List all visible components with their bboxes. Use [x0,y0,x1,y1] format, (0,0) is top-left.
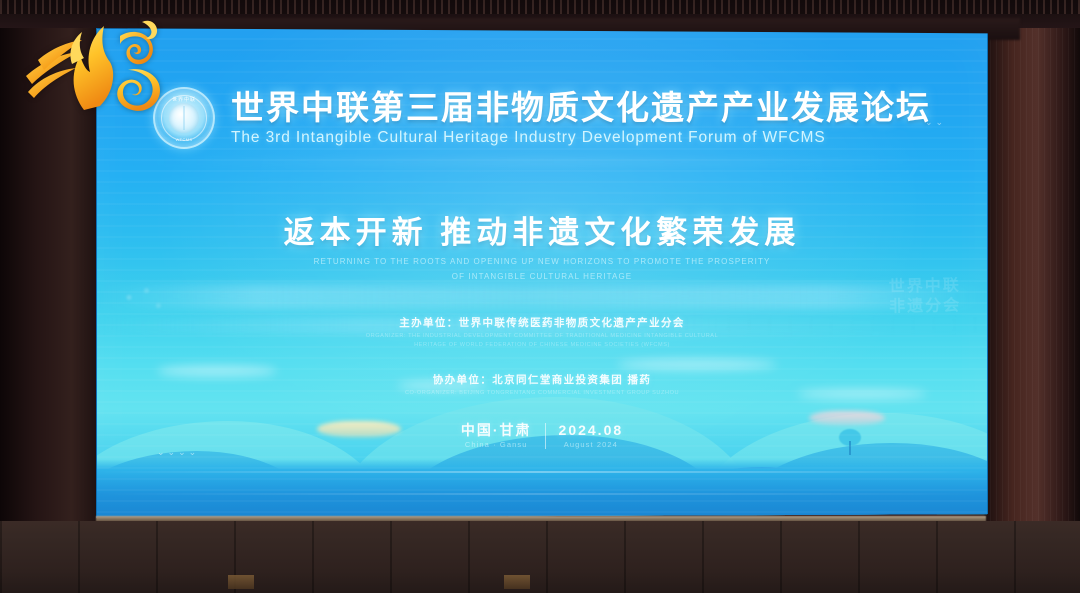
emblem-bottom-text: WFCMS [155,137,213,142]
title-block: 世界中联第三届非物质文化遗产产业发展论坛 The 3rd Intangible … [231,89,931,147]
date-col: 2024.08 August 2024 [559,422,624,449]
phoenix-flame-logo [24,18,174,114]
date-cn: 2024.08 [559,422,624,439]
date-location-block: 中国·甘肃 China · Gansu 2024.08 August 2024 [97,422,987,449]
slogan-cn: 返本开新 推动非遗文化繁荣发展 [97,214,987,252]
date-en: August 2024 [559,440,624,449]
stage-front-panel [0,521,1080,593]
slogan-block: 返本开新 推动非遗文化繁荣发展 RETURNING TO THE ROOTS A… [97,214,987,282]
led-presentation-screen[interactable]: 世界中联非遗分会 ⌄⌄⌄⌄ ⌄⌄ [96,28,988,518]
slide-content: 世界中联 WFCMS 世界中联第三届非物质文化遗产产业发展论坛 The 3rd … [97,29,987,517]
floor-marker [504,575,530,589]
location-en: China · Gansu [461,440,532,449]
location-cn: 中国·甘肃 [461,422,532,439]
organizer-en-line2: HERITAGE OF WORLD FEDERATION OF CHINESE … [97,341,987,349]
location-col: 中国·甘肃 China · Gansu [461,422,532,449]
date-divider [545,423,546,449]
right-wall-panel [984,0,1080,593]
forum-title-cn: 世界中联第三届非物质文化遗产产业发展论坛 [231,89,931,127]
co-organizer-cn: 协办单位：北京同仁堂商业投资集团 播药 [97,373,987,388]
co-organizer-en: CO-ORGANIZER: BEIJING TONGRENTANG COMMER… [97,389,987,397]
organizer-en-line1: ORGANIZER: THE INDUSTRIAL DEVELOPMENT CO… [97,332,987,340]
slogan-en-line1: RETURNING TO THE ROOTS AND OPENING UP NE… [97,256,987,267]
title-row: 世界中联 WFCMS 世界中联第三届非物质文化遗产产业发展论坛 The 3rd … [97,87,987,149]
ceiling-slats [0,0,1080,14]
forum-title-en: The 3rd Intangible Cultural Heritage Ind… [231,129,931,147]
slogan-en-line2: OF INTANGIBLE CULTURAL HERITAGE [97,271,987,282]
organizer-cn: 主办单位：世界中联传统医药非物质文化遗产产业分会 [97,316,987,331]
conference-hall: 世界中联非遗分会 ⌄⌄⌄⌄ ⌄⌄ [0,0,1080,593]
floor-marker [228,575,254,589]
organizer-block: 主办单位：世界中联传统医药非物质文化遗产产业分会 ORGANIZER: THE … [97,316,987,397]
